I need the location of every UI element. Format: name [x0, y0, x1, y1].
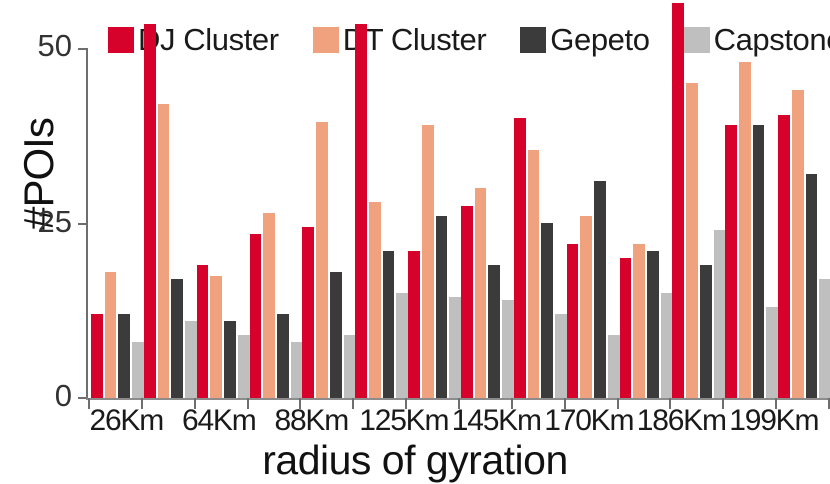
bar-dt-cluster[interactable]	[686, 83, 698, 398]
bar-dt-cluster[interactable]	[158, 104, 170, 398]
plot-area	[88, 48, 828, 398]
bar-dj-cluster[interactable]	[197, 265, 209, 398]
bar-capstone[interactable]	[819, 279, 830, 398]
bar-group	[144, 48, 197, 398]
bar-capstone[interactable]	[238, 335, 250, 398]
bar-capstone[interactable]	[185, 321, 197, 398]
bar-gepeto[interactable]	[224, 321, 236, 398]
x-tick-label: 26Km	[80, 404, 173, 438]
bar-group	[250, 48, 303, 398]
bar-dt-cluster[interactable]	[316, 122, 328, 399]
bar-group	[514, 48, 567, 398]
bar-dj-cluster[interactable]	[408, 251, 420, 398]
bar-capstone[interactable]	[132, 342, 144, 398]
bar-capstone[interactable]	[396, 293, 408, 398]
x-tick-label: 88Km	[265, 404, 358, 438]
bar-dj-cluster[interactable]	[672, 3, 684, 399]
bar-dt-cluster[interactable]	[528, 150, 540, 399]
bar-dj-cluster[interactable]	[302, 227, 314, 399]
bar-group	[355, 48, 408, 398]
bar-dj-cluster[interactable]	[461, 206, 473, 399]
bar-dj-cluster[interactable]	[250, 234, 262, 399]
bar-gepeto[interactable]	[330, 272, 342, 398]
bar-group	[672, 48, 725, 398]
x-tick-label: 64Km	[173, 404, 266, 438]
bar-capstone[interactable]	[449, 297, 461, 399]
bar-group	[302, 48, 355, 398]
x-tick-label: 186Km	[635, 404, 728, 438]
bar-dt-cluster[interactable]	[369, 202, 381, 398]
x-tick-label: 145Km	[450, 404, 543, 438]
chart-root: DJ Cluster DT Cluster Gepeto Capstone #P…	[0, 0, 830, 480]
bar-gepeto[interactable]	[753, 125, 765, 398]
bar-capstone[interactable]	[555, 314, 567, 398]
bar-capstone[interactable]	[661, 293, 673, 398]
bar-capstone[interactable]	[766, 307, 778, 398]
x-axis-line	[86, 398, 828, 400]
bar-group	[461, 48, 514, 398]
bar-dt-cluster[interactable]	[633, 244, 645, 398]
bar-capstone[interactable]	[502, 300, 514, 398]
x-tick-label: 199Km	[728, 404, 821, 438]
bar-group	[197, 48, 250, 398]
bar-dt-cluster[interactable]	[580, 216, 592, 398]
bar-gepeto[interactable]	[488, 265, 500, 398]
bar-group	[620, 48, 673, 398]
bar-group	[408, 48, 461, 398]
bar-gepeto[interactable]	[171, 279, 183, 398]
bar-capstone[interactable]	[608, 335, 620, 398]
bar-gepeto[interactable]	[277, 314, 289, 398]
bar-group	[778, 48, 830, 398]
bar-gepeto[interactable]	[700, 265, 712, 398]
y-axis-ticks: 50 25 0	[0, 0, 72, 480]
bar-dj-cluster[interactable]	[620, 258, 632, 398]
x-axis-title: radius of gyration	[0, 437, 830, 484]
bar-dt-cluster[interactable]	[792, 90, 804, 398]
bar-capstone[interactable]	[291, 342, 303, 398]
bar-gepeto[interactable]	[647, 251, 659, 398]
bar-dj-cluster[interactable]	[355, 24, 367, 399]
bar-dj-cluster[interactable]	[91, 314, 103, 398]
bar-dj-cluster[interactable]	[778, 115, 790, 399]
bar-dj-cluster[interactable]	[567, 244, 579, 398]
bar-dt-cluster[interactable]	[475, 188, 487, 398]
bar-dj-cluster[interactable]	[144, 24, 156, 399]
bar-gepeto[interactable]	[436, 216, 448, 398]
y-tick-label-25: 25	[38, 206, 72, 237]
bar-capstone[interactable]	[714, 230, 726, 398]
x-tick-label: 170Km	[543, 404, 636, 438]
bar-dt-cluster[interactable]	[739, 62, 751, 398]
bar-dt-cluster[interactable]	[422, 125, 434, 398]
y-tick-label-0: 0	[55, 380, 72, 411]
bar-gepeto[interactable]	[806, 174, 818, 398]
bar-dj-cluster[interactable]	[725, 125, 737, 398]
bar-gepeto[interactable]	[541, 223, 553, 398]
bar-gepeto[interactable]	[383, 251, 395, 398]
bar-group	[91, 48, 144, 398]
bar-dj-cluster[interactable]	[514, 118, 526, 398]
bar-dt-cluster[interactable]	[210, 276, 222, 399]
bar-capstone[interactable]	[344, 335, 356, 398]
x-tick-label: 125Km	[358, 404, 451, 438]
y-tick-label-50: 50	[38, 30, 72, 61]
bar-group	[567, 48, 620, 398]
bar-dt-cluster[interactable]	[263, 213, 275, 399]
bar-gepeto[interactable]	[594, 181, 606, 398]
bar-dt-cluster[interactable]	[105, 272, 117, 398]
bar-group	[725, 48, 778, 398]
bar-gepeto[interactable]	[118, 314, 130, 398]
